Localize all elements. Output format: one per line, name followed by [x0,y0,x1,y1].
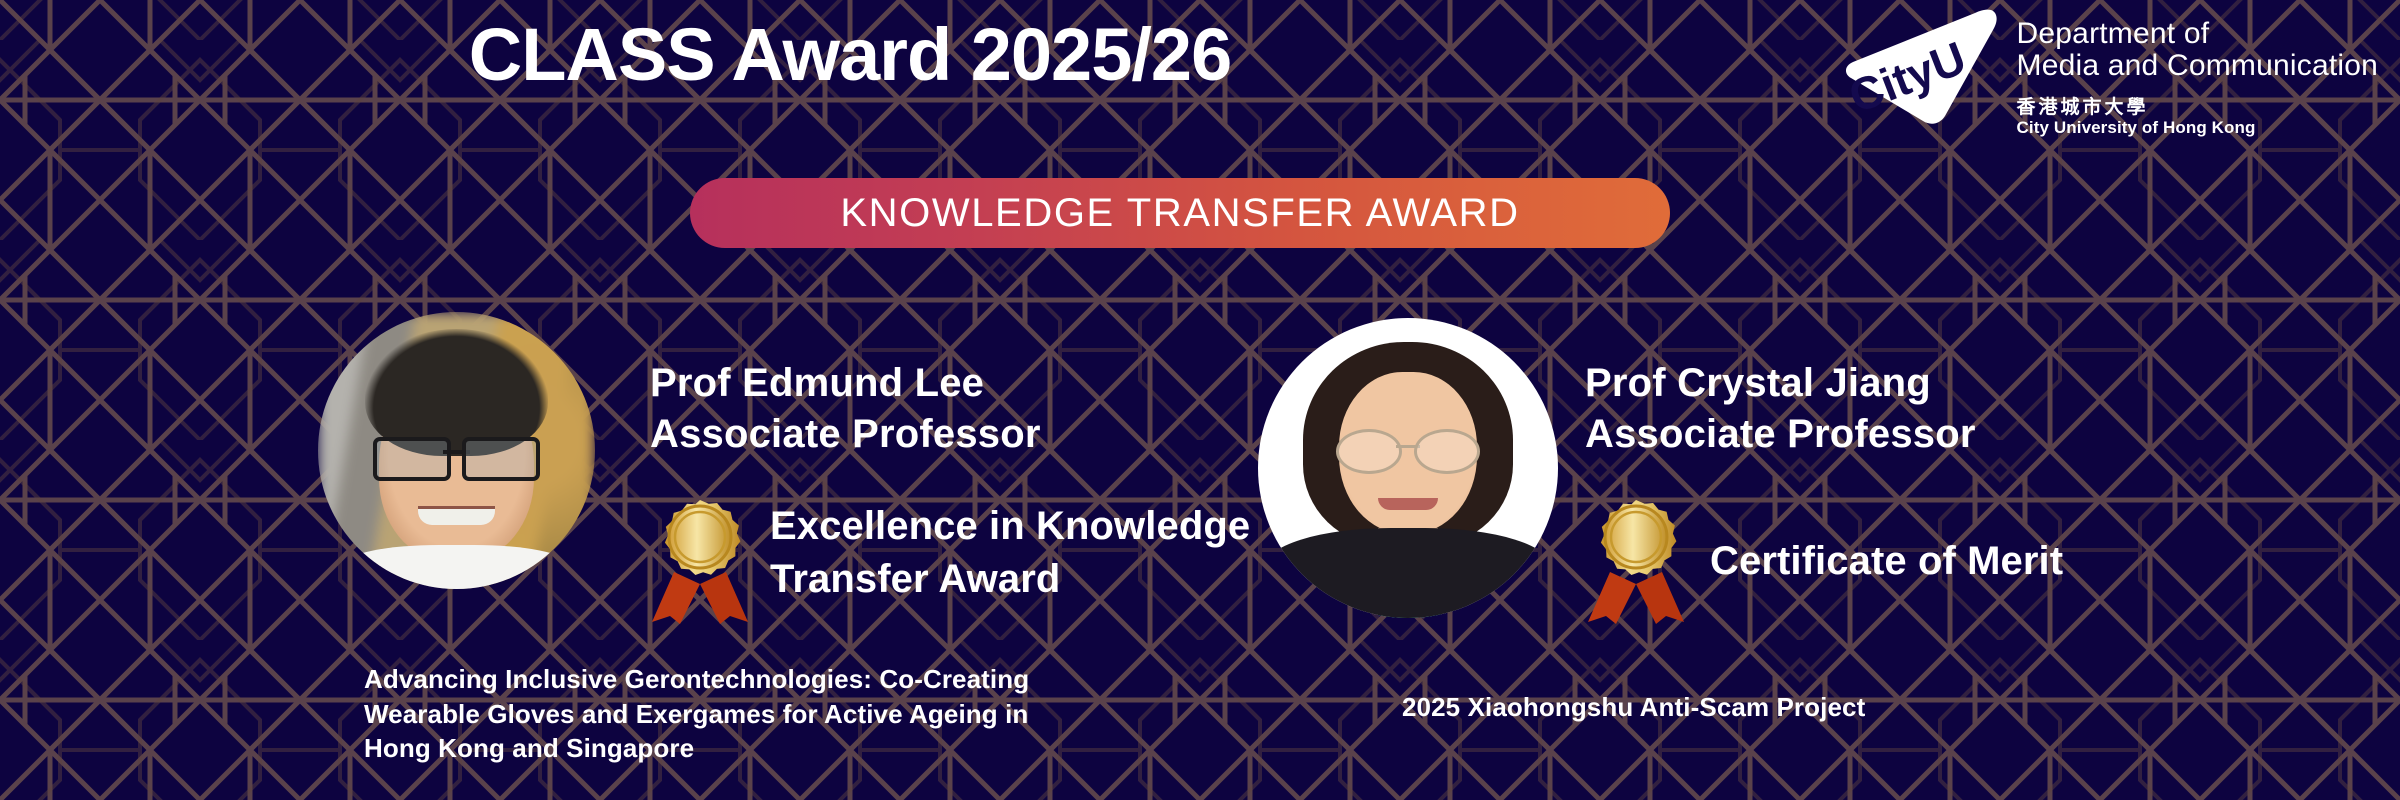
award-category-badge: KNOWLEDGE TRANSFER AWARD [690,178,1670,248]
project-title-crystal-jiang: 2025 Xiaohongshu Anti-Scam Project [1402,690,1922,725]
logo-text-block: Department of Media and Communication 香港… [2017,8,2378,138]
award-name-line1: Excellence in Knowledge [770,500,1250,553]
photo-shirt [346,545,568,589]
award-name-line2: Transfer Award [770,553,1250,606]
class-award-banner: CLASS Award 2025/26 CityU Department of … [0,0,2400,800]
photo-glasses [1336,429,1480,468]
awardee-name: Prof Edmund Lee [650,358,1041,409]
awardee-photo-edmund-lee [318,312,595,589]
photo-mouth [418,509,496,526]
project-title-edmund-lee: Advancing Inclusive Gerontechnologies: C… [364,662,1064,766]
photo-blazer [1264,528,1552,618]
awardee-info-edmund-lee: Prof Edmund Lee Associate Professor [650,358,1041,460]
avatar [1258,318,1558,618]
awardee-role: Associate Professor [650,409,1041,460]
awardee-name: Prof Crystal Jiang [1585,358,1976,409]
award-row-edmund-lee: Excellence in Knowledge Transfer Award [644,498,1250,624]
awardee-photo-crystal-jiang [1258,318,1558,618]
logo-department-line1: Department of [2017,18,2378,50]
award-medal-icon [644,498,756,624]
cityu-logo-block: CityU Department of Media and Communicat… [1841,8,2378,138]
award-category-label: KNOWLEDGE TRANSFER AWARD [840,191,1519,236]
award-medal-icon [1580,498,1692,624]
awardee-info-crystal-jiang: Prof Crystal Jiang Associate Professor [1585,358,1976,460]
award-row-crystal-jiang: Certificate of Merit [1580,498,2063,624]
photo-glasses [373,437,539,473]
awardee-role: Associate Professor [1585,409,1976,460]
logo-university-english: City University of Hong Kong [2017,118,2378,138]
photo-mouth [1378,498,1438,510]
page-title: CLASS Award 2025/26 [0,18,1700,92]
logo-university-chinese: 香港城市大學 [2017,97,2378,118]
avatar [318,312,595,589]
logo-department-line2: Media and Communication [2017,50,2378,82]
award-name: Certificate of Merit [1710,535,2063,588]
cityu-logo-icon: CityU [1841,8,2001,126]
award-name: Excellence in Knowledge Transfer Award [770,500,1250,606]
